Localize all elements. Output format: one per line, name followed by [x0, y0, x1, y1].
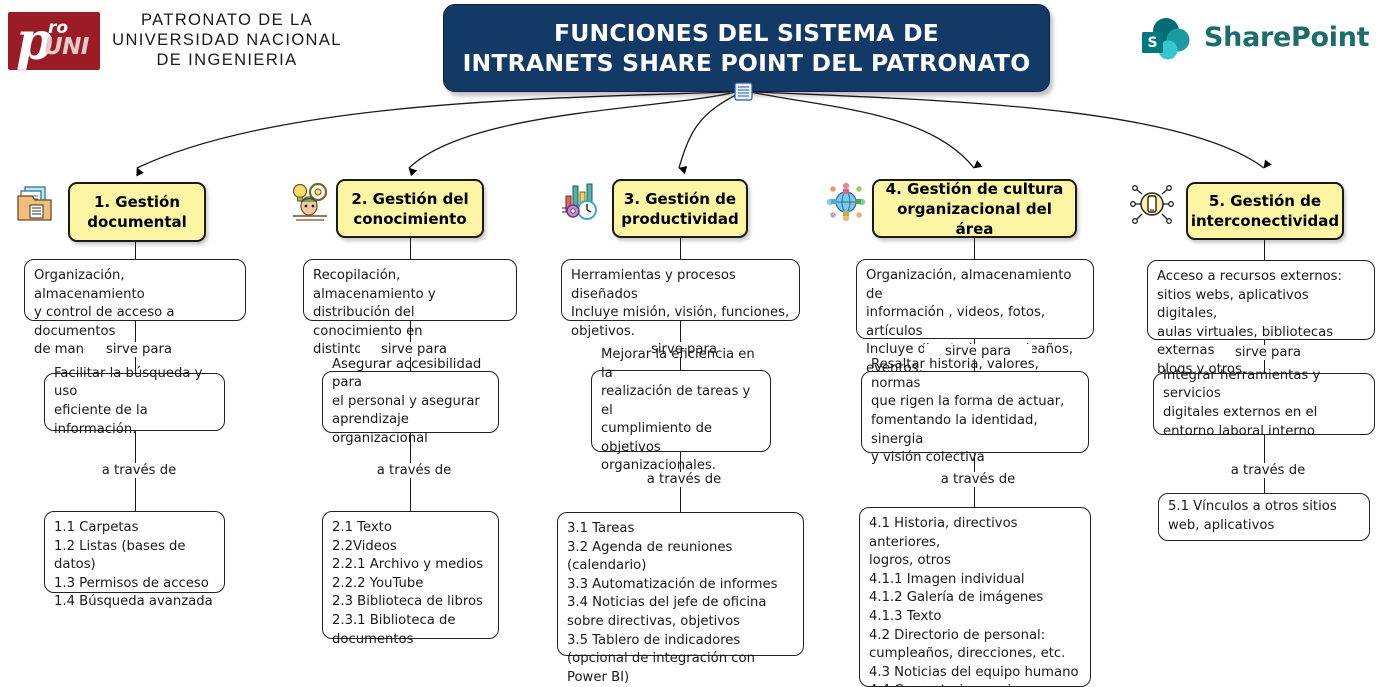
branch-3-edge-label-through: a través de: [630, 472, 738, 487]
branch-5-items: 5.1 Vínculos a otros sitios web, aplicat…: [1158, 493, 1370, 541]
branch-2-title[interactable]: 2. Gestión del conocimiento: [336, 179, 484, 238]
branch-3-purpose: Mejorar la eficiencia en la realización …: [591, 370, 771, 452]
branch-2-purpose: Asegurar accesibilidad para el personal …: [322, 371, 499, 433]
branch-1-purpose: Facilitar la búsqueda y uso eficiente de…: [44, 373, 225, 431]
pro-uni-uni-glyph: UNI: [44, 34, 89, 60]
branch-5-edge-label-through: a través de: [1214, 463, 1322, 478]
page-title: FUNCIONES DEL SISTEMA DE INTRANETS SHARE…: [463, 18, 1031, 78]
branch-2-items: 2.1 Texto 2.2Videos 2.2.1 Archivo y medi…: [322, 511, 499, 639]
globe-people-culture-icon: [824, 180, 868, 224]
organization-name: PATRONATO DE LA UNIVERSIDAD NACIONAL DE …: [112, 10, 342, 70]
connected-device-network-icon: [1130, 182, 1174, 226]
branch-3-connector-1: [680, 238, 681, 259]
sharepoint-mark-icon: S: [1138, 16, 1200, 66]
sharepoint-wordmark: SharePoint: [1204, 22, 1369, 53]
svg-text:S: S: [1147, 35, 1157, 51]
branch-5-title[interactable]: 5. Gestión de interconectividad: [1186, 182, 1344, 240]
branch-5-purpose: Integrar herramientas y servicios digita…: [1153, 373, 1375, 435]
branch-1-description: Organización, almacenamiento y control d…: [24, 259, 246, 321]
branch-3-title[interactable]: 3. Gestión de productividad: [612, 179, 748, 238]
sharepoint-logo: S SharePoint: [1138, 16, 1373, 66]
branch-4-title[interactable]: 4. Gestión de cultura organizacional del…: [872, 179, 1077, 238]
bar-chart-clock-gear-icon: [557, 180, 601, 224]
branch-4-items: 4.1 Historia, directivos anteriores, log…: [859, 507, 1091, 687]
branch-4-description: Organización, almacenamiento de informac…: [856, 259, 1094, 339]
folder-documents-icon: [14, 182, 58, 226]
pro-uni-logo: p ro UNI: [8, 12, 100, 70]
branch-3-items: 3.1 Tareas 3.2 Agenda de reuniones (cale…: [557, 512, 804, 656]
branch-4-connector-1: [974, 238, 975, 259]
branch-3-description: Herramientas y procesos diseñados Incluy…: [561, 259, 800, 321]
lightbulb-gear-knowledge-icon: [288, 180, 332, 224]
branch-2-edge-label-through: a través de: [360, 463, 468, 478]
branch-4-purpose: Resaltar historia, valores, normas que r…: [861, 371, 1089, 453]
branch-1-title[interactable]: 1. Gestión documental: [68, 182, 206, 242]
branch-1-edge-label-serves: sirve para: [85, 342, 193, 357]
branch-5-edge-label-serves: sirve para: [1214, 345, 1322, 360]
branch-1-edge-label-through: a través de: [85, 463, 193, 478]
branch-4-edge-label-through: a través de: [924, 472, 1032, 487]
branch-5-connector-1: [1264, 240, 1265, 260]
branch-2-description: Recopilación, almacenamiento y distribuc…: [303, 259, 517, 321]
branch-5-description: Acceso a recursos externos: sitios webs,…: [1147, 260, 1375, 340]
diagram-title-banner: FUNCIONES DEL SISTEMA DE INTRANETS SHARE…: [443, 4, 1050, 92]
diagram-canvas: p ro UNI PATRONATO DE LA UNIVERSIDAD NAC…: [0, 0, 1385, 687]
branch-2-connector-1: [410, 238, 411, 259]
branch-1-items: 1.1 Carpetas 1.2 Listas (bases de datos)…: [44, 511, 225, 593]
